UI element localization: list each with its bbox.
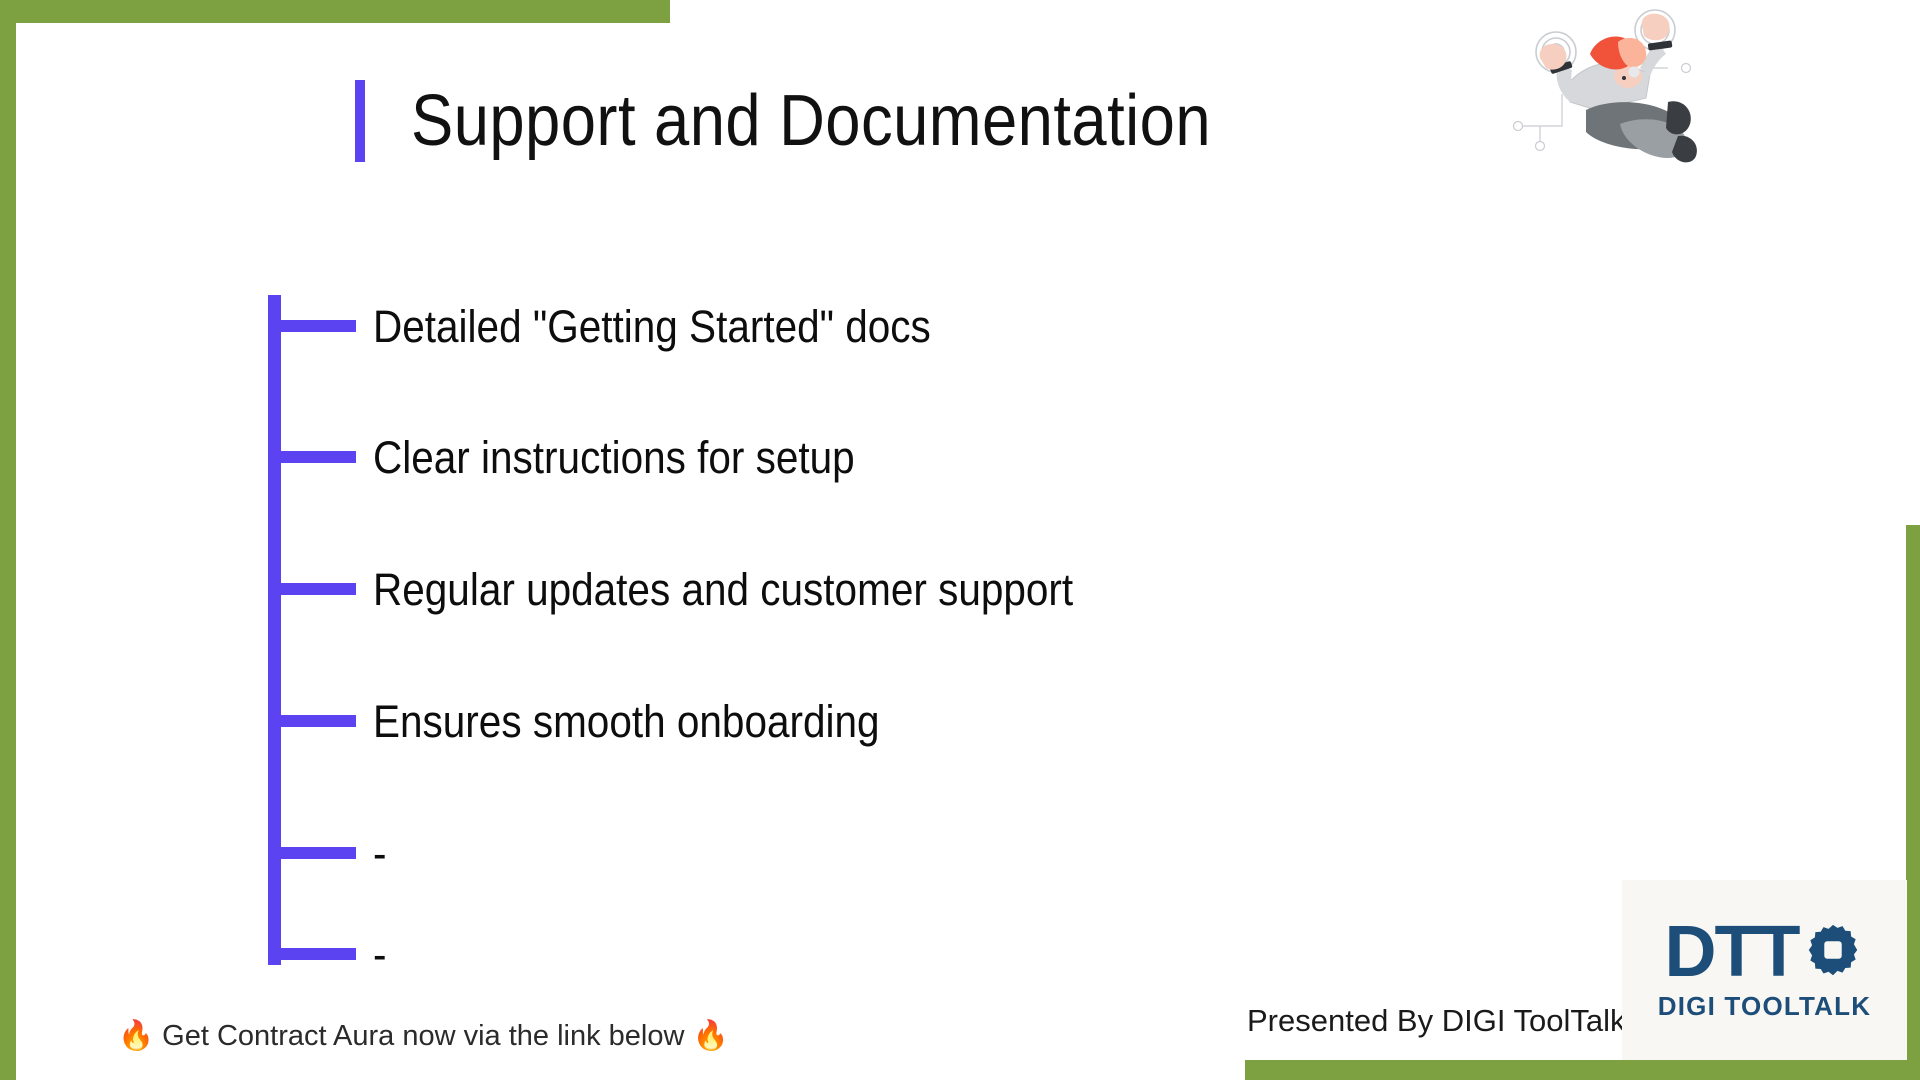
list-item: Detailed "Getting Started" docs — [268, 295, 993, 357]
footer-cta-text: 🔥 Get Contract Aura now via the link bel… — [118, 1019, 729, 1053]
list-item-label: Ensures smooth onboarding — [373, 699, 880, 744]
list-item-label: Regular updates and customer support — [373, 567, 1073, 612]
slide-title-row: Support and Documentation — [355, 80, 1320, 162]
list-item-label: Clear instructions for setup — [373, 435, 855, 480]
bracket-connector — [268, 948, 356, 960]
presented-by-text: Presented By DIGI ToolTalk — [1247, 1003, 1626, 1039]
bracket-connector — [268, 583, 356, 595]
person-with-network-nodes-illustration — [1500, 6, 1740, 171]
green-accent-bar-bottom — [1245, 1060, 1920, 1080]
bracket-connector — [268, 715, 356, 727]
logo-letters: DTT — [1665, 918, 1799, 986]
logo-mark: DTT — [1665, 918, 1865, 986]
green-accent-bar-left — [0, 0, 16, 1080]
gear-icon — [1802, 919, 1864, 986]
green-accent-bar-top — [0, 0, 670, 23]
slide-canvas: Support and Documentation Detailed "Gett… — [0, 0, 1920, 1080]
list-item: Clear instructions for setup — [268, 426, 908, 488]
list-item-label: - — [373, 932, 387, 977]
list-item-label: - — [373, 831, 387, 876]
list-item: Ensures smooth onboarding — [268, 690, 936, 752]
list-item: Regular updates and customer support — [268, 558, 1151, 620]
logo-wordmark: DIGI TOOLTALK — [1658, 991, 1871, 1022]
brand-logo: DTT DIGI TOOLTALK — [1622, 880, 1907, 1060]
title-accent-bar — [355, 80, 365, 162]
bracket-list: Detailed "Getting Started" docs Clear in… — [268, 295, 1468, 975]
green-accent-bar-right — [1906, 525, 1920, 1080]
bracket-connector — [268, 320, 356, 332]
page-title: Support and Documentation — [411, 85, 1211, 157]
list-item-label: Detailed "Getting Started" docs — [373, 304, 931, 349]
bracket-connector — [268, 451, 356, 463]
bracket-connector — [268, 847, 356, 859]
list-item: - — [268, 923, 388, 985]
list-item: - — [268, 822, 388, 884]
